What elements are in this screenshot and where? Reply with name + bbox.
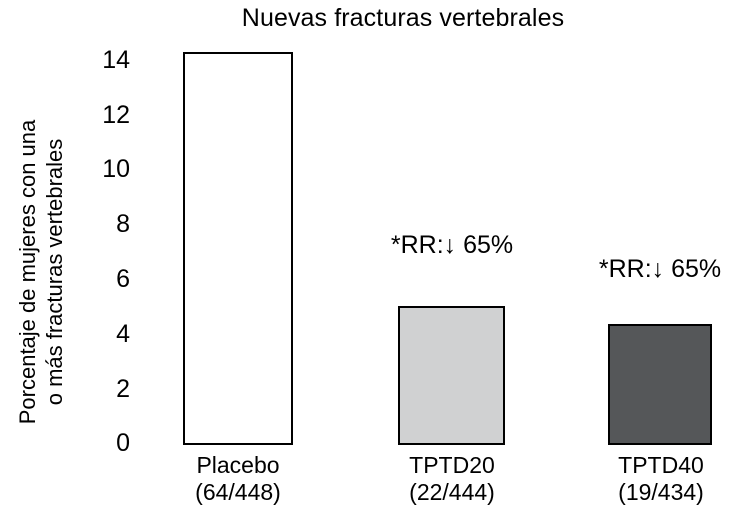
bar-placebo <box>183 52 293 445</box>
annotation-rr-label: *RR: <box>599 255 652 283</box>
x-tick-label: TPTD40 <box>581 452 730 479</box>
x-tick-sublabel: (22/444) <box>372 479 532 506</box>
x-tick-sublabel: (19/434) <box>581 479 730 506</box>
x-tick-sublabel: (64/448) <box>158 479 318 506</box>
x-tick-label: Placebo <box>158 452 318 479</box>
annotation-tptd20: *RR:↓ 65% <box>352 231 552 259</box>
down-arrow-icon: ↓ <box>444 231 457 259</box>
x-tick-tptd40: TPTD40 (19/434) <box>581 452 730 506</box>
bar-chart-figure: Nuevas fracturas vertebrales Porcentaje … <box>0 0 730 521</box>
annotation-tptd40: *RR:↓ 65% <box>562 255 730 283</box>
down-arrow-icon: ↓ <box>652 255 665 283</box>
plot-area: *RR:↓ 65% *RR:↓ 65% Placebo (64/448) TPT… <box>0 0 730 521</box>
x-tick-placebo: Placebo (64/448) <box>158 452 318 506</box>
annotation-rr-label: *RR: <box>391 231 444 259</box>
annotation-rr-value: 65% <box>664 255 721 283</box>
bar-tptd40 <box>608 324 712 445</box>
bar-tptd20 <box>398 306 505 445</box>
x-tick-tptd20: TPTD20 (22/444) <box>372 452 532 506</box>
annotation-rr-value: 65% <box>456 231 513 259</box>
x-tick-label: TPTD20 <box>372 452 532 479</box>
